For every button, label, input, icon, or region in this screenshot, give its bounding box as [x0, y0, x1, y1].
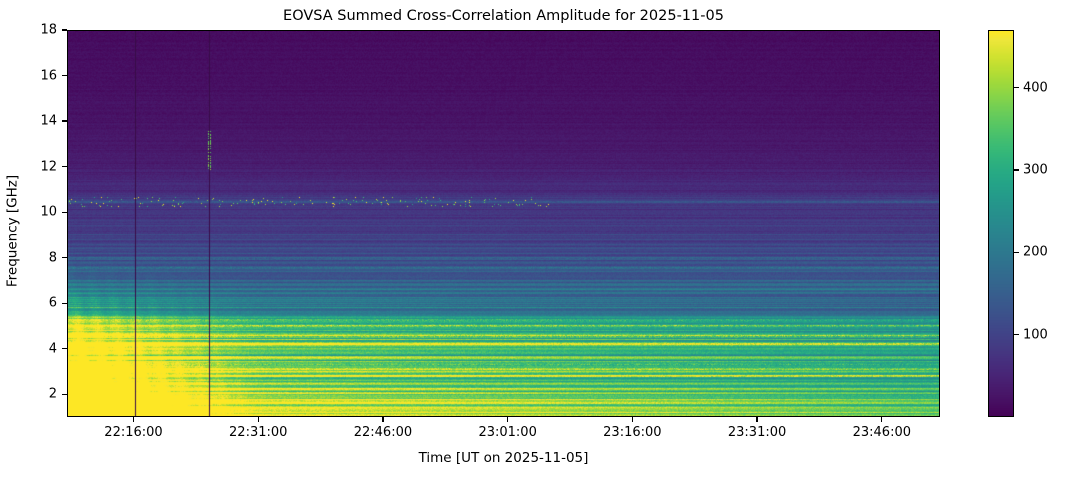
y-tick-mark: [62, 394, 67, 395]
x-tick-mark: [382, 417, 383, 422]
y-tick-mark: [62, 120, 67, 121]
x-tick-label: 22:16:00: [104, 425, 162, 440]
colorbar-tick-label: 200: [1023, 245, 1048, 260]
x-tick-label: 23:01:00: [478, 425, 536, 440]
colorbar-tick-label: 300: [1023, 162, 1048, 177]
colorbar-tick-label: 100: [1023, 327, 1048, 342]
x-tick-mark: [507, 417, 508, 422]
colorbar-tick-mark: [1014, 334, 1019, 335]
y-tick-mark: [62, 212, 67, 213]
colorbar-tick-mark: [1014, 87, 1019, 88]
colorbar-gradient: [989, 31, 1014, 417]
spectrogram-figure: EOVSA Summed Cross-Correlation Amplitude…: [0, 0, 1073, 479]
x-tick-mark: [258, 417, 259, 422]
x-tick-label: 22:46:00: [354, 425, 412, 440]
x-tick-mark: [756, 417, 757, 422]
x-tick-label: 23:31:00: [728, 425, 786, 440]
colorbar-tick-mark: [1014, 169, 1019, 170]
x-tick-label: 23:16:00: [603, 425, 661, 440]
spectrogram-plot-area[interactable]: [67, 30, 940, 417]
y-axis-label: Frequency [GHz]: [5, 38, 21, 425]
x-tick-mark: [632, 417, 633, 422]
y-tick-mark: [62, 303, 67, 304]
colorbar-tick-mark: [1014, 252, 1019, 253]
x-axis-label: Time [UT on 2025-11-05]: [67, 450, 940, 466]
y-tick-mark: [62, 348, 67, 349]
x-tick-mark: [133, 417, 134, 422]
x-tick-mark: [881, 417, 882, 422]
x-tick-label: 22:31:00: [229, 425, 287, 440]
y-tick-mark: [62, 257, 67, 258]
colorbar-tick-label: 400: [1023, 80, 1048, 95]
y-tick-label: 18: [0, 23, 57, 38]
page-title: EOVSA Summed Cross-Correlation Amplitude…: [67, 8, 940, 24]
colorbar[interactable]: [988, 30, 1014, 417]
spectrogram-image[interactable]: [68, 31, 940, 417]
x-tick-label: 23:46:00: [853, 425, 911, 440]
y-tick-mark: [62, 75, 67, 76]
y-tick-mark: [62, 29, 67, 30]
y-tick-mark: [62, 166, 67, 167]
